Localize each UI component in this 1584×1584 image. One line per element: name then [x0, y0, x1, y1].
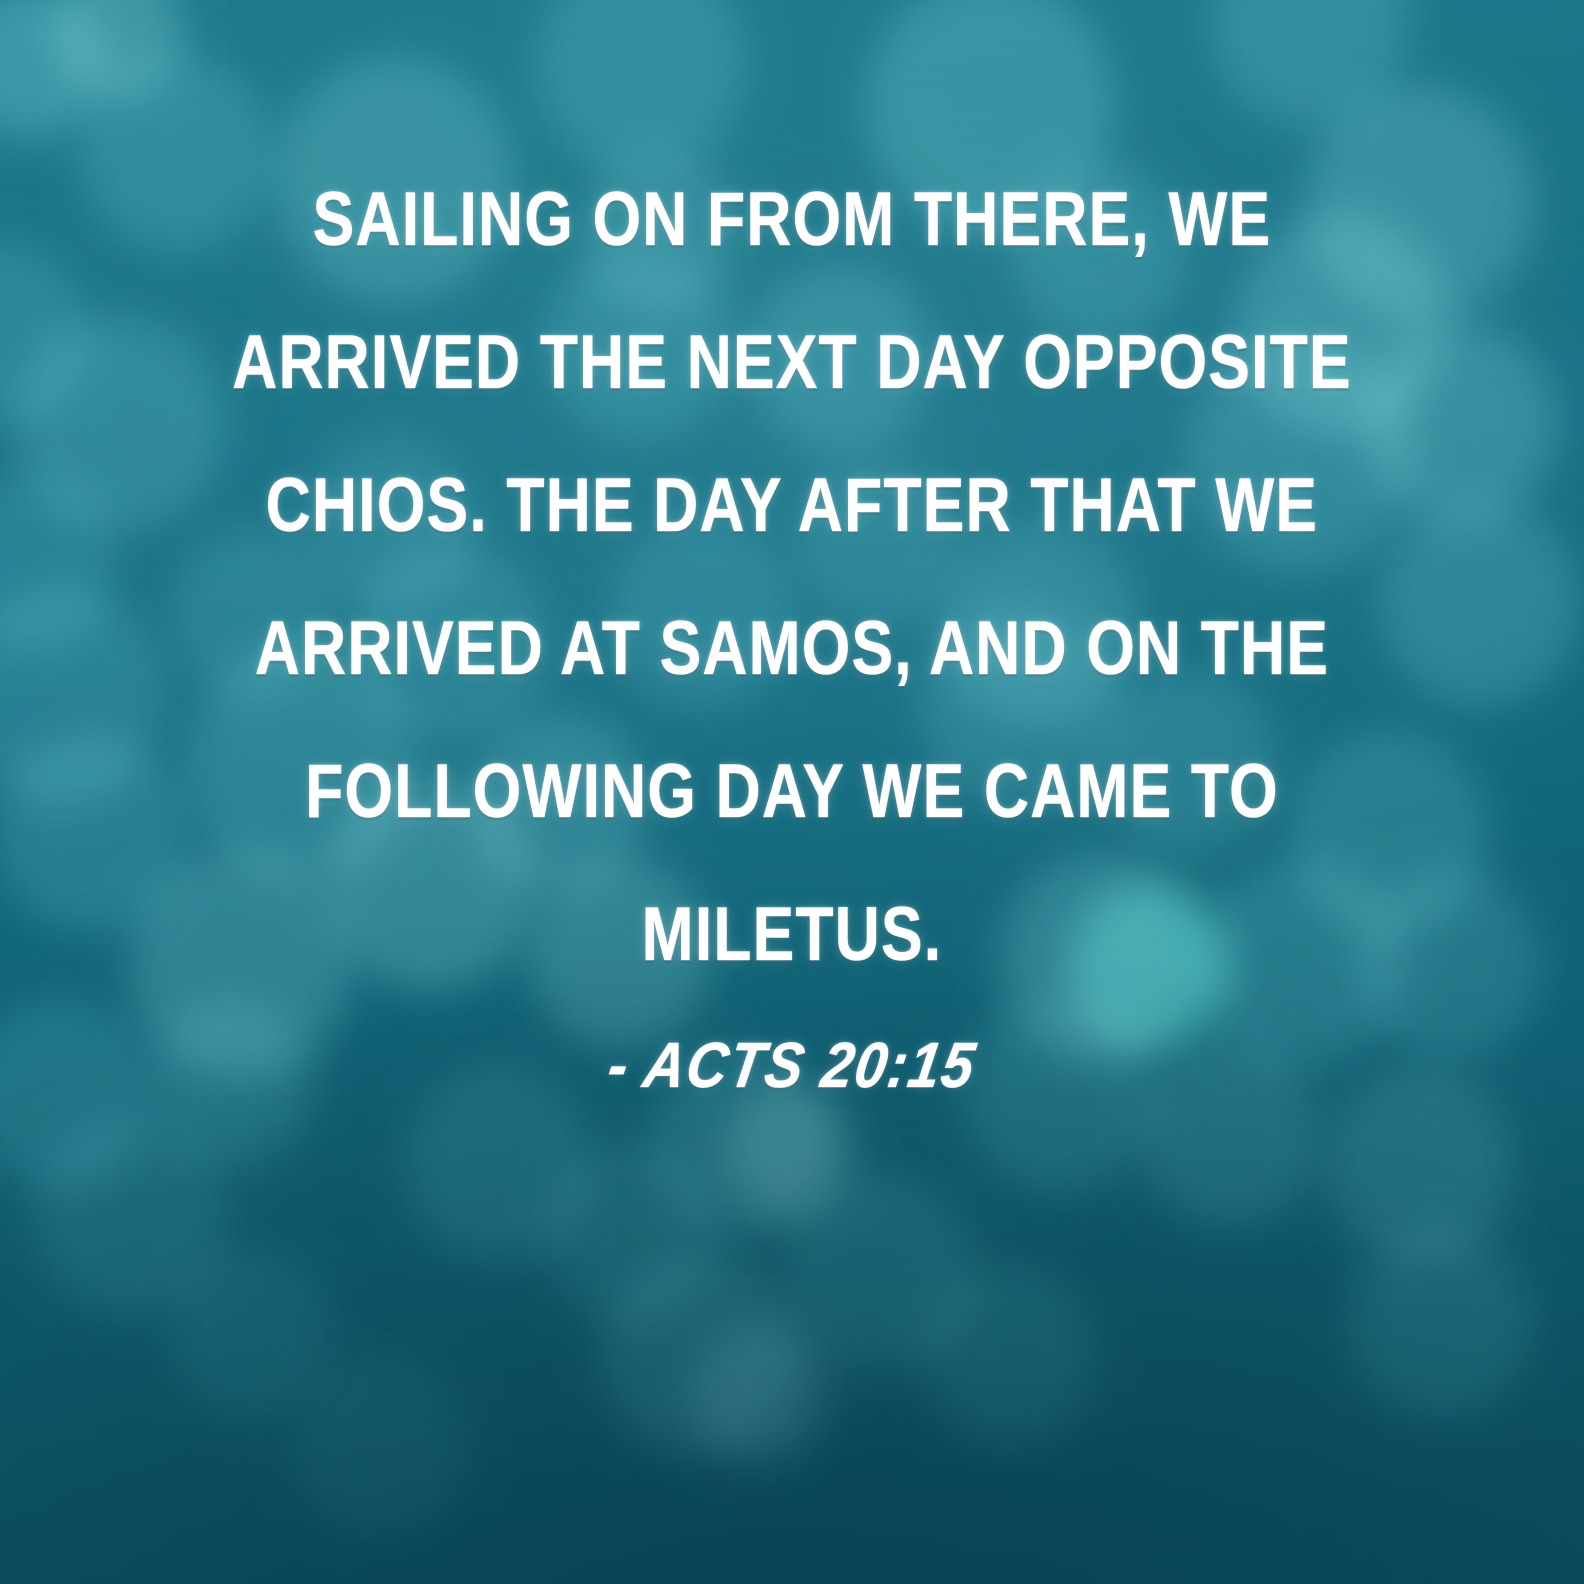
verse-line: MILETUS.	[215, 863, 1370, 1006]
verse-line: ARRIVED THE NEXT DAY OPPOSITE	[215, 291, 1370, 434]
verse-image-card: SAILING ON FROM THERE, WE ARRIVED THE NE…	[0, 0, 1584, 1584]
bokeh-circle	[690, 1320, 830, 1466]
verse-attribution: - ACTS 20:15	[0, 1028, 1584, 1102]
verse-line: FOLLOWING DAY WE CAME TO	[215, 720, 1370, 863]
bokeh-circle	[923, 1263, 1098, 1445]
verse-text-block: SAILING ON FROM THERE, WE ARRIVED THE NE…	[0, 148, 1584, 1006]
bokeh-circle	[1348, 1228, 1533, 1420]
verse-line: CHIOS. THE DAY AFTER THAT WE	[215, 434, 1370, 577]
verse-line: ARRIVED AT SAMOS, AND ON THE	[215, 577, 1370, 720]
bokeh-circle	[293, 1353, 468, 1535]
attribution-label: - ACTS 20:15	[603, 1028, 981, 1102]
verse-line: SAILING ON FROM THERE, WE	[215, 148, 1370, 291]
